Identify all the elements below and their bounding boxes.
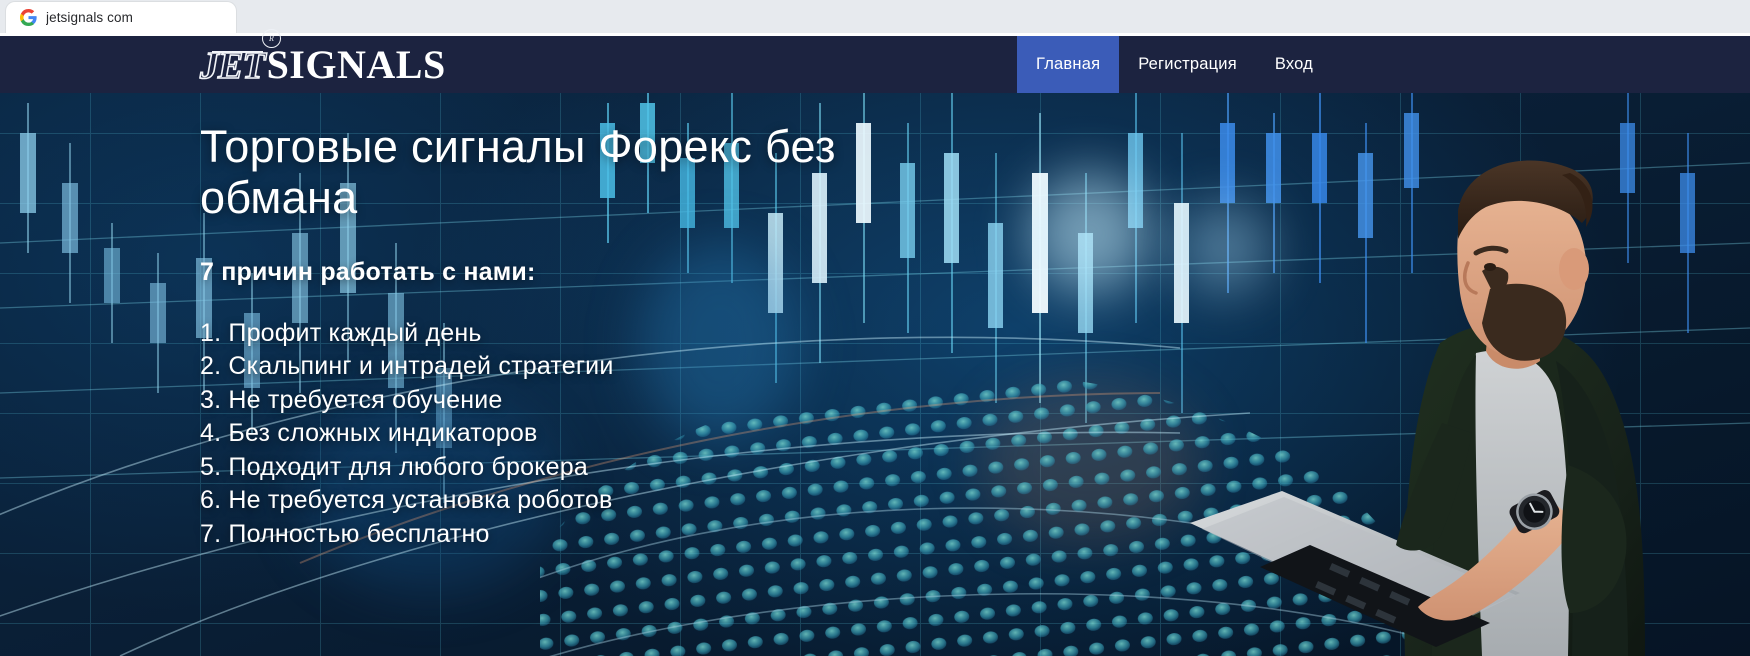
google-g-icon [20,9,37,26]
hero-reason-item: 3. Не требуется обучение [200,384,1100,418]
hero-reason-item: 2. Скальпинг и интрадей стратегии [200,350,1100,384]
hero-reason-item: 4. Без сложных индикаторов [200,417,1100,451]
hero-title: Торговые сигналы Форекс без обмана [200,121,890,224]
hero-subtitle: 7 причин работать с нами: [200,258,1100,287]
browser-tab-strip: jetsignals com [0,0,1750,33]
hero-reasons-list: 1. Профит каждый день 2. Скальпинг и инт… [200,317,1100,552]
hero-reason-item: 1. Профит каждый день [200,317,1100,351]
browser-tab-title: jetsignals com [46,10,133,25]
nav-item-home[interactable]: Главная [1017,36,1119,93]
hero-reason-item: 5. Подходит для любого брокера [200,451,1100,485]
logo-text-jet: JET [200,47,267,85]
main-navigation: Главная Регистрация Вход [1017,36,1332,93]
hero-banner: Торговые сигналы Форекс без обмана 7 при… [0,93,1750,656]
hero-person-with-laptop-image [1190,93,1710,656]
nav-item-registration[interactable]: Регистрация [1119,36,1256,93]
browser-tab[interactable]: jetsignals com [6,2,236,33]
hero-reason-item: 7. Полностью бесплатно [200,518,1100,552]
nav-item-login[interactable]: Вход [1256,36,1332,93]
logo-text-signals: SIGNALS [267,45,446,85]
site-logo[interactable]: R JET SIGNALS [200,36,446,93]
hero-reason-item: 6. Не требуется установка роботов [200,484,1100,518]
hero-copy-block: Торговые сигналы Форекс без обмана 7 при… [200,121,1100,551]
